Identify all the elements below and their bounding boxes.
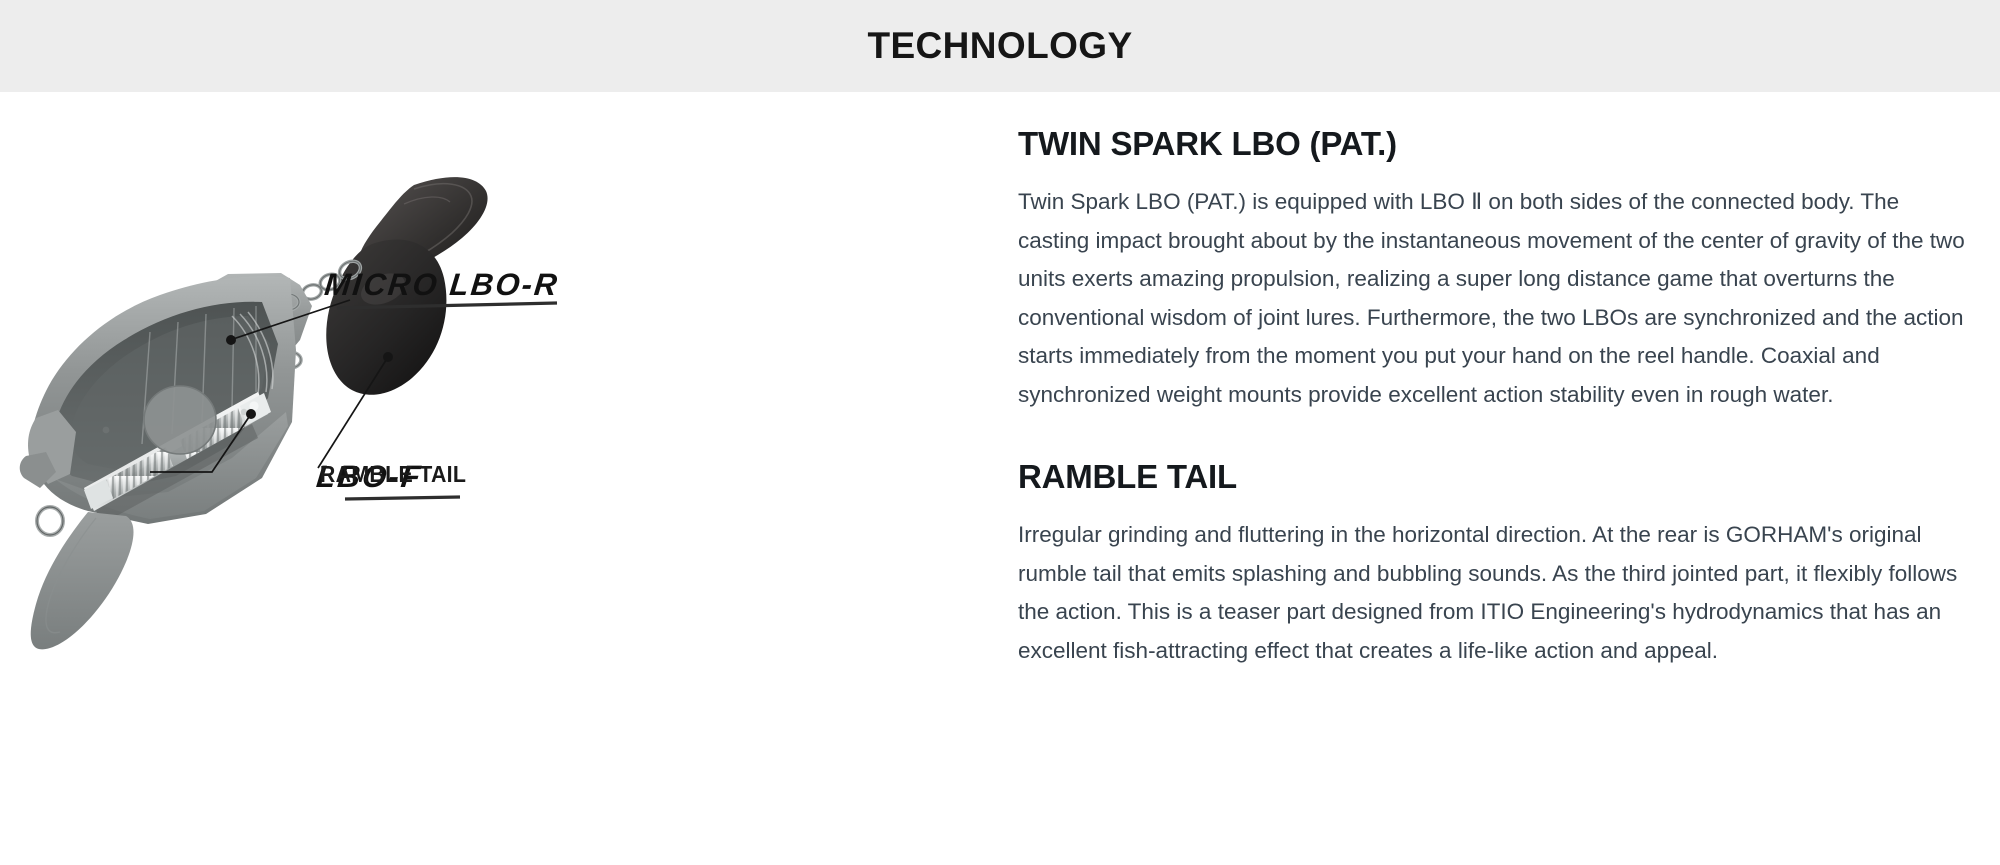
section-body-ramble-tail: Irregular grinding and fluttering in the… bbox=[1018, 516, 1970, 670]
section-heading-twin-spark-lbo: TWIN SPARK LBO (PAT.) bbox=[1018, 125, 1970, 163]
section-body-twin-spark-lbo: Twin Spark LBO (PAT.) is equipped with L… bbox=[1018, 183, 1970, 414]
technology-content: MICRO LBO-R LBO-F RAMBLE TAIL TWIN SPARK… bbox=[0, 92, 2000, 865]
label-micro-lbo-r: MICRO LBO-R bbox=[323, 267, 561, 308]
lure-diagram: MICRO LBO-R LBO-F RAMBLE TAIL bbox=[0, 92, 1000, 865]
section-ramble-tail: RAMBLE TAIL Irregular grinding and flutt… bbox=[1018, 458, 1970, 670]
front-hook-eyelet bbox=[37, 507, 63, 535]
technology-text-column: TWIN SPARK LBO (PAT.) Twin Spark LBO (PA… bbox=[1000, 92, 2000, 670]
lure-diagram-svg: MICRO LBO-R LBO-F RAMBLE TAIL bbox=[0, 92, 1000, 865]
section-twin-spark-lbo: TWIN SPARK LBO (PAT.) Twin Spark LBO (PA… bbox=[1018, 125, 1970, 414]
lure-eye-dot bbox=[103, 427, 110, 434]
page-title: TECHNOLOGY bbox=[867, 25, 1132, 67]
label-ramble-tail-text: RAMBLE TAIL bbox=[320, 461, 466, 487]
label-lbo-f-underline bbox=[345, 497, 460, 499]
page-header: TECHNOLOGY bbox=[0, 0, 2000, 92]
section-heading-ramble-tail: RAMBLE TAIL bbox=[1018, 458, 1970, 496]
label-micro-lbo-r-text: MICRO LBO-R bbox=[323, 267, 561, 302]
